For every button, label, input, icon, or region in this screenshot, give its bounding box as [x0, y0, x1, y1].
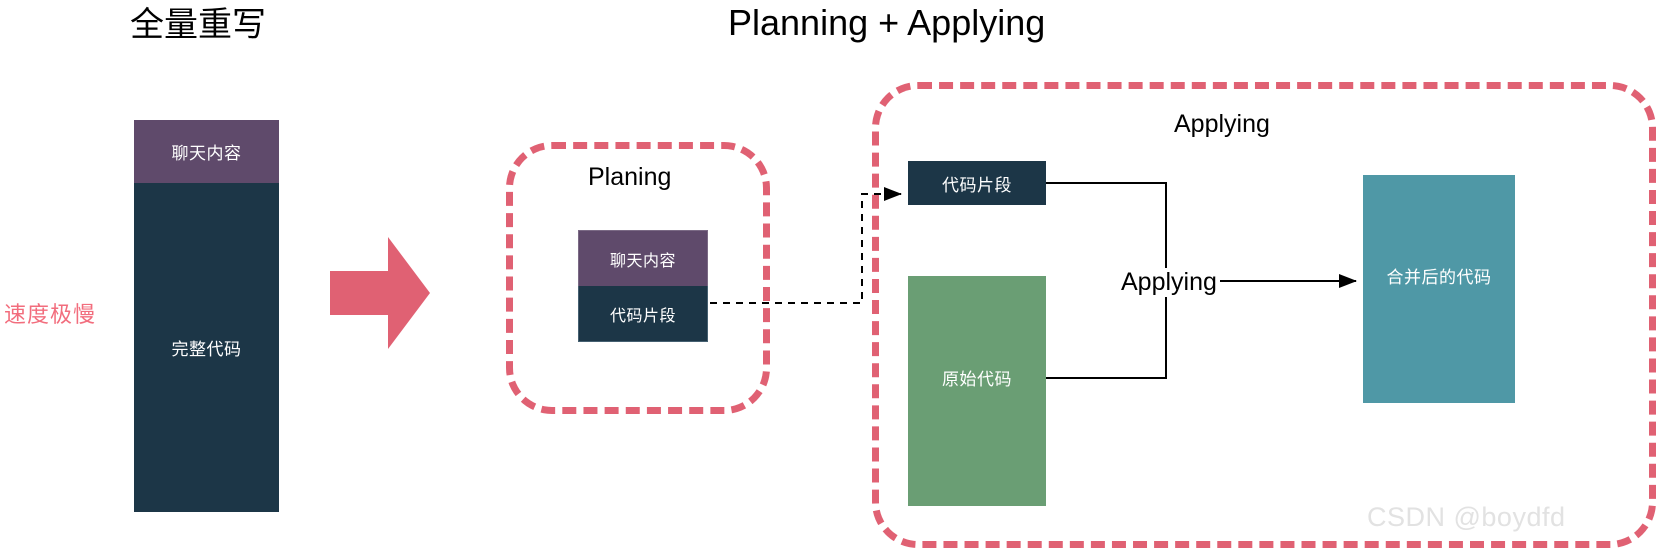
applying-box-label: 合并后的代码	[1387, 263, 1492, 288]
applying-box-merged-code: 合并后的代码	[1363, 175, 1515, 403]
page-title-left: 全量重写	[130, 8, 266, 42]
page-title-right: Planning + Applying	[728, 5, 1045, 41]
stack-segment-label: 聊天内容	[172, 139, 242, 164]
applying-box-code-snippet: 代码片段	[908, 161, 1046, 205]
planning-segment-label: 代码片段	[610, 302, 676, 326]
watermark: CSDN @boydfd	[1367, 502, 1565, 533]
diagram-canvas: 全量重写 Planning + Applying 聊天内容 完整代码 速度极慢 …	[0, 0, 1671, 558]
full-rewrite-stack: 聊天内容 完整代码	[134, 120, 279, 512]
applying-box-original-code: 原始代码	[908, 276, 1046, 506]
stack-segment-full-code: 完整代码	[134, 183, 279, 512]
planning-region-label: Planing	[588, 163, 671, 192]
slow-speed-annotation: 速度极慢	[4, 297, 96, 329]
applying-box-label: 原始代码	[942, 365, 1012, 390]
stack-segment-chat-content: 聊天内容	[134, 120, 279, 183]
planning-segment-code-snippet: 代码片段	[578, 286, 708, 342]
applying-region-label: Applying	[1174, 110, 1270, 139]
planning-stack: 聊天内容 代码片段	[578, 230, 708, 342]
applying-box-label: 代码片段	[942, 171, 1012, 196]
planning-segment-label: 聊天内容	[610, 247, 676, 271]
transform-arrow-icon	[330, 237, 430, 349]
planning-segment-chat-content: 聊天内容	[578, 230, 708, 286]
applying-process-label: Applying	[1119, 268, 1219, 297]
stack-segment-label: 完整代码	[172, 335, 242, 360]
